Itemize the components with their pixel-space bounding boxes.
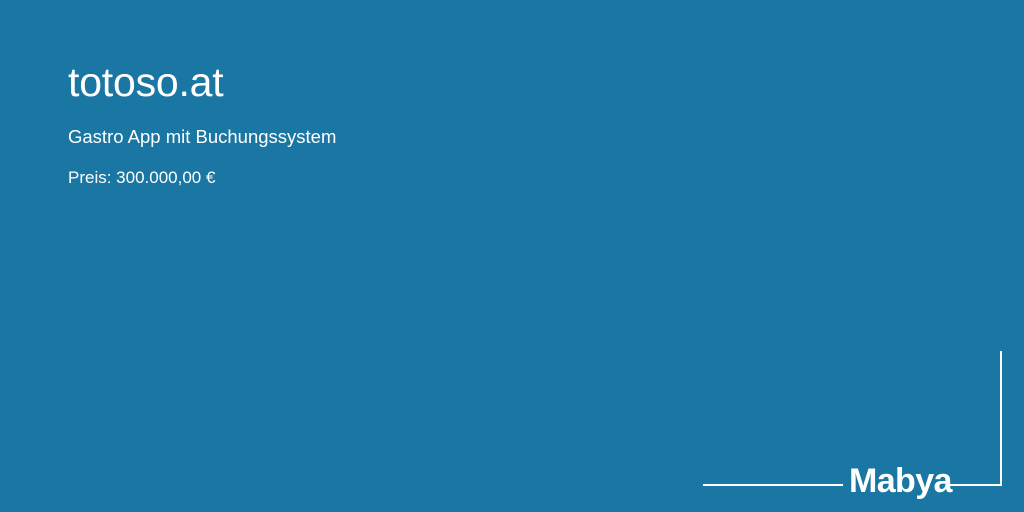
- horizontal-rule-left-icon: [703, 484, 843, 486]
- brand-logo: Mabya: [703, 351, 1002, 486]
- listing-card: totoso.at Gastro App mit Buchungssystem …: [0, 0, 1024, 512]
- brand-wordmark: Mabya: [849, 464, 952, 498]
- vertical-rule-icon: [1000, 351, 1002, 486]
- page-title: totoso.at: [68, 58, 828, 106]
- listing-subtitle: Gastro App mit Buchungssystem: [68, 125, 828, 149]
- listing-text-block: totoso.at Gastro App mit Buchungssystem …: [68, 58, 828, 189]
- horizontal-rule-right-icon: [947, 484, 1002, 486]
- listing-price: Preis: 300.000,00 €: [68, 167, 828, 189]
